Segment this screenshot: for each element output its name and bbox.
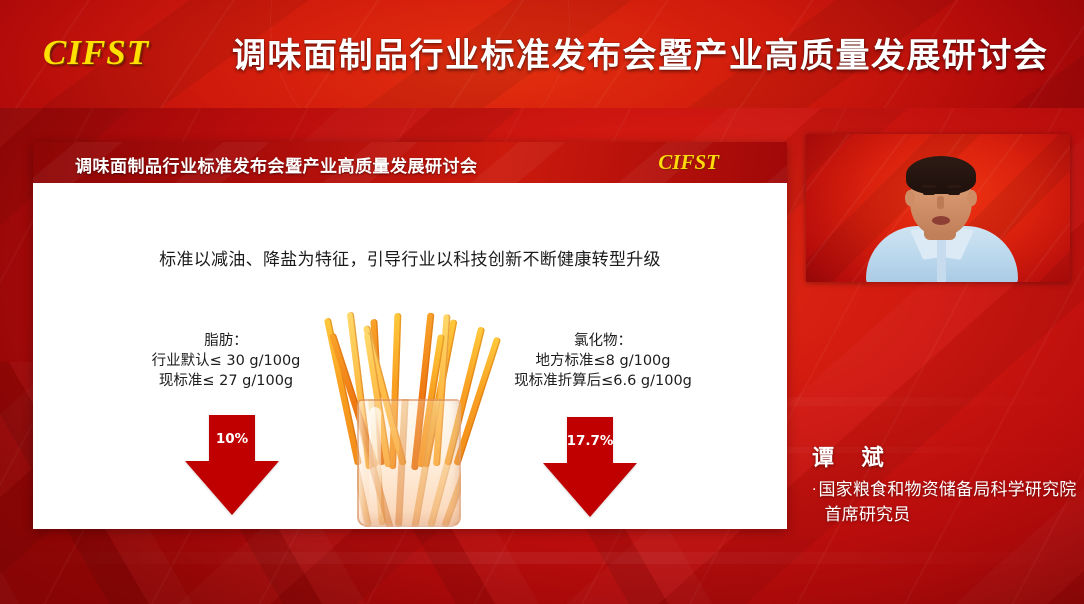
nutrient-block-fat: 脂肪： 行业默认≤ 30 g/100g 现标准≤ 27 g/100g [111,331,341,391]
product-photo-snack-sticks [325,311,495,529]
reduction-arrow-fat: 10% [185,415,279,515]
nutrient-name: 脂肪： [111,331,341,351]
speaker-portrait [806,134,1070,282]
nutrient-line: 行业默认≤ 30 g/100g [111,351,341,371]
bullet-icon: · [812,478,816,502]
speaker-nose [937,196,944,209]
speaker-ear-right [967,190,977,206]
slide-header-title: 调味面制品行业标准发布会暨产业高质量发展研讨会 [75,152,478,177]
slide-body: 标准以减油、降盐为特征，引导行业以科技创新不断健康转型升级 脂肪： 行业默认≤ … [33,183,787,529]
speaker-info: 谭 斌 · 国家粮食和物资储备局科学研究院 首席研究员 [812,440,1080,528]
speaker-affiliation: 国家粮食和物资储备局科学研究院 首席研究员 [818,478,1076,528]
glass-jar [357,399,461,527]
reduction-percent: 17.7% [543,433,637,449]
down-arrow-icon: 17.7% [543,417,637,517]
reduction-percent: 10% [185,431,279,447]
nutrient-line: 地方标准≤8 g/100g [473,351,733,371]
speaker-name: 谭 斌 [812,440,1080,472]
reduction-arrow-chloride: 17.7% [543,417,637,517]
speaker-mouth [932,216,950,225]
slide-cifst-logo: CIFST [658,150,719,175]
speaker-eyebrow-left [922,185,936,188]
cifst-logo: CIFST [43,33,149,73]
speaker-eye-left [923,191,935,195]
nutrient-name: 氯化物： [473,331,733,351]
down-arrow-icon: 10% [185,415,279,515]
arrow-head [543,463,637,517]
slide-container: 调味面制品行业标准发布会暨产业高质量发展研讨会 CIFST 标准以减油、降盐为特… [33,142,787,529]
speaker-hair [906,156,976,194]
slide-subtitle: 标准以减油、降盐为特征，引导行业以科技创新不断健康转型升级 [33,245,787,270]
speaker-eye-right [948,191,960,195]
presentation-screen: CIFST 调味面制品行业标准发布会暨产业高质量发展研讨会 调味面制品行业标准发… [0,0,1084,604]
nutrient-line: 现标准折算后≤6.6 g/100g [473,371,733,391]
speaker-affiliation-line1: 国家粮食和物资储备局科学研究院 [818,480,1076,500]
nutrient-line: 现标准≤ 27 g/100g [111,371,341,391]
nutrient-block-chloride: 氯化物： 地方标准≤8 g/100g 现标准折算后≤6.6 g/100g [473,331,733,391]
jar-highlight [369,407,381,519]
arrow-head [185,461,279,515]
event-title: 调味面制品行业标准发布会暨产业高质量发展研讨会 [232,28,1062,77]
speaker-video-feed[interactable] [806,134,1070,282]
shirt-placket [937,238,946,282]
speaker-affiliation-line2: 首席研究员 [824,503,1076,528]
speaker-ear-left [905,190,915,206]
speaker-eyebrow-right [947,185,961,188]
speaker-affiliation-row: · 国家粮食和物资储备局科学研究院 首席研究员 [812,478,1080,528]
